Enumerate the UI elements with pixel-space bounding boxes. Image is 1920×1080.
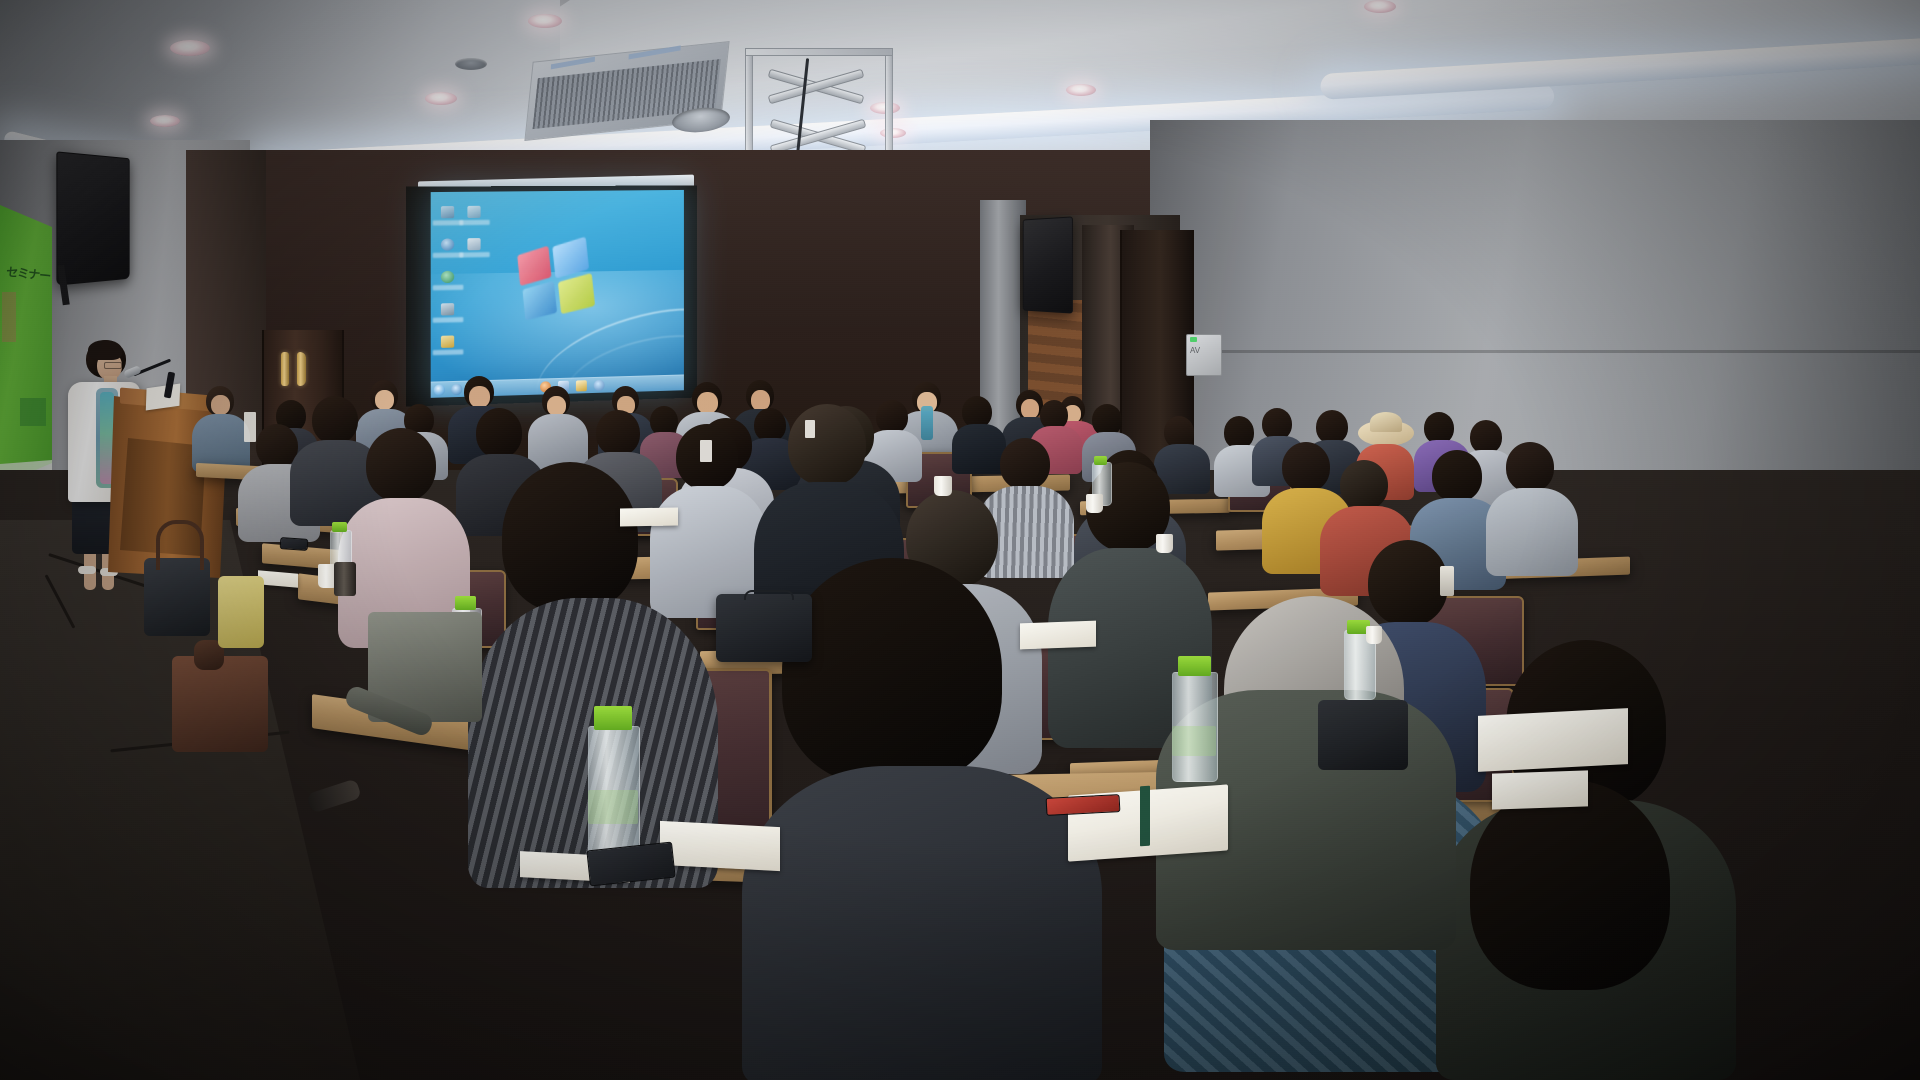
bag-handle xyxy=(744,590,794,600)
windows-logo-icon xyxy=(517,241,598,322)
bottle-label xyxy=(1172,726,1216,756)
bottle-cap xyxy=(332,522,347,532)
paper-cup xyxy=(1366,626,1382,644)
lanyard xyxy=(1440,566,1454,596)
paper-cup xyxy=(1086,494,1103,513)
start-button[interactable] xyxy=(434,384,445,395)
bag xyxy=(1318,700,1408,770)
paper-cup xyxy=(934,476,952,496)
paper-cup xyxy=(1156,534,1173,553)
desktop-icon-folder[interactable] xyxy=(441,335,454,347)
smartphone[interactable] xyxy=(280,537,309,551)
lanyard xyxy=(921,406,933,440)
internet-explorer-icon[interactable] xyxy=(451,384,462,395)
desktop-icon-recycle-bin[interactable] xyxy=(467,206,480,218)
bottle-cap xyxy=(1178,656,1211,676)
name-tag xyxy=(244,412,256,442)
notebook xyxy=(620,507,678,526)
downlight-icon xyxy=(1364,0,1396,13)
app-icon[interactable] xyxy=(576,380,587,391)
presenter-glasses-icon xyxy=(104,362,122,369)
loudspeaker-left xyxy=(56,151,129,285)
control-panel-label: AV xyxy=(1190,346,1216,366)
desktop-icon-internet[interactable] xyxy=(441,238,454,250)
downlight-icon xyxy=(455,58,487,70)
name-tag xyxy=(700,440,712,462)
downlight-icon xyxy=(425,92,457,105)
loudspeaker-right xyxy=(1023,216,1073,313)
backpack xyxy=(172,656,268,752)
notebook xyxy=(1020,621,1096,650)
door-handle-icon[interactable] xyxy=(281,352,289,386)
desktop-icon-network[interactable] xyxy=(441,303,454,315)
bottle-cap xyxy=(594,706,632,730)
downlight-icon xyxy=(528,14,562,28)
bottle-label xyxy=(588,790,638,824)
downlight-icon xyxy=(1066,84,1096,96)
bottle-cap xyxy=(1094,456,1107,465)
banner-text: セミナー xyxy=(0,266,55,363)
status-led-icon xyxy=(1190,337,1197,342)
notebook-spine xyxy=(1140,786,1150,847)
shoulder-bag-strap xyxy=(156,520,204,570)
tumbler xyxy=(334,562,356,596)
notebook xyxy=(660,821,780,871)
name-tag xyxy=(805,420,815,438)
projection-screen xyxy=(431,190,684,398)
desktop-icon-documents[interactable] xyxy=(467,238,480,250)
open-notebook xyxy=(1478,708,1628,772)
downlight-icon xyxy=(170,40,210,56)
banner-accent xyxy=(20,398,46,426)
desktop-icon-computer[interactable] xyxy=(441,206,454,218)
tote-bag xyxy=(218,576,264,648)
app-icon[interactable] xyxy=(594,380,605,391)
door-handle-icon[interactable] xyxy=(297,352,306,386)
laptop-bag xyxy=(716,594,812,662)
downlight-icon xyxy=(150,115,180,127)
presenter-shoe xyxy=(78,566,96,574)
seminar-room-photo: AV セミナー xyxy=(0,0,1920,1080)
presenter-hair-front xyxy=(88,340,122,360)
notebook xyxy=(1492,770,1588,809)
bottle-cap xyxy=(455,596,476,610)
wall-seam xyxy=(1180,350,1920,353)
